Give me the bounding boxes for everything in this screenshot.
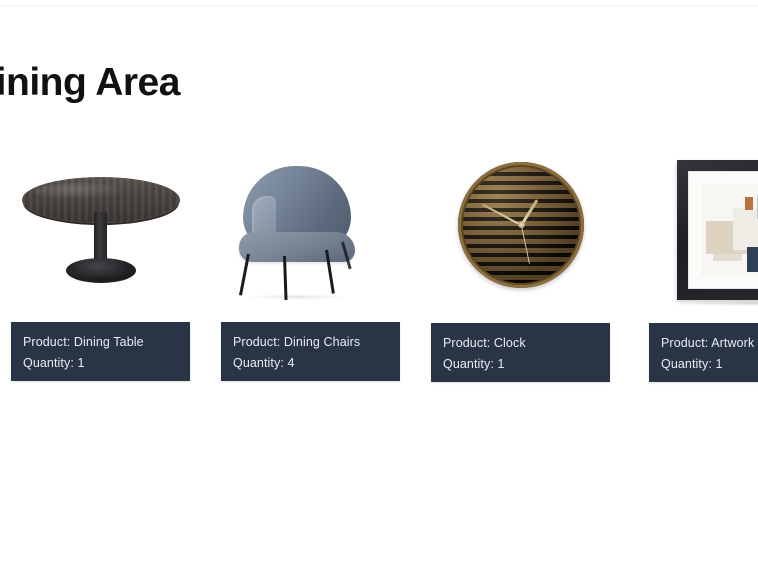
dining-chair-image [221,150,400,310]
product-quantity-line: Quantity: 1 [23,353,178,374]
product-card-dining-table[interactable]: Product: Dining Table Quantity: 1 [11,150,190,381]
product-name-line: Product: Clock [443,333,598,354]
artwork-mat-shape [688,171,758,289]
product-card-clock[interactable]: Product: Clock Quantity: 1 [431,150,610,382]
dining-table-image [11,150,190,310]
product-name-line: Product: Dining Table [23,332,178,353]
artwork-abstract-shape [733,208,758,250]
chair-shadow [245,294,349,300]
artwork-abstract-shape [747,247,758,273]
product-label-plate: Product: Dining Table Quantity: 1 [11,322,190,381]
product-label-plate: Product: Clock Quantity: 1 [431,323,610,382]
clock-body-shape [458,162,584,288]
product-quantity-line: Quantity: 4 [233,353,388,374]
product-card-row: Product: Dining Table Quantity: 1 Produc… [11,150,758,390]
product-name-line: Product: Artwork [661,333,758,354]
page-title: Dining Area [0,59,180,107]
dining-area-page: Dining Area Product: Dining Table Quanti… [0,0,758,564]
artwork-image [649,150,758,310]
product-name-line: Product: Dining Chairs [233,332,388,353]
artwork-frame-shape [677,160,758,300]
artwork-abstract-shape [713,254,742,261]
top-divider [0,5,758,6]
product-quantity-line: Quantity: 1 [443,354,598,375]
clock-center-pin [518,221,525,228]
product-label-plate: Product: Artwork Quantity: 1 [649,323,758,382]
clock-image [431,150,610,310]
table-shadow [63,274,139,282]
product-quantity-line: Quantity: 1 [661,354,758,375]
product-card-dining-chairs[interactable]: Product: Dining Chairs Quantity: 4 [221,150,400,381]
product-card-artwork[interactable]: Product: Artwork Quantity: 1 [649,150,758,382]
artwork-canvas-shape [701,184,758,276]
artwork-shadow [681,300,758,306]
artwork-abstract-shape [745,197,754,210]
product-label-plate: Product: Dining Chairs Quantity: 4 [221,322,400,381]
chair-seat-shape [239,232,355,262]
